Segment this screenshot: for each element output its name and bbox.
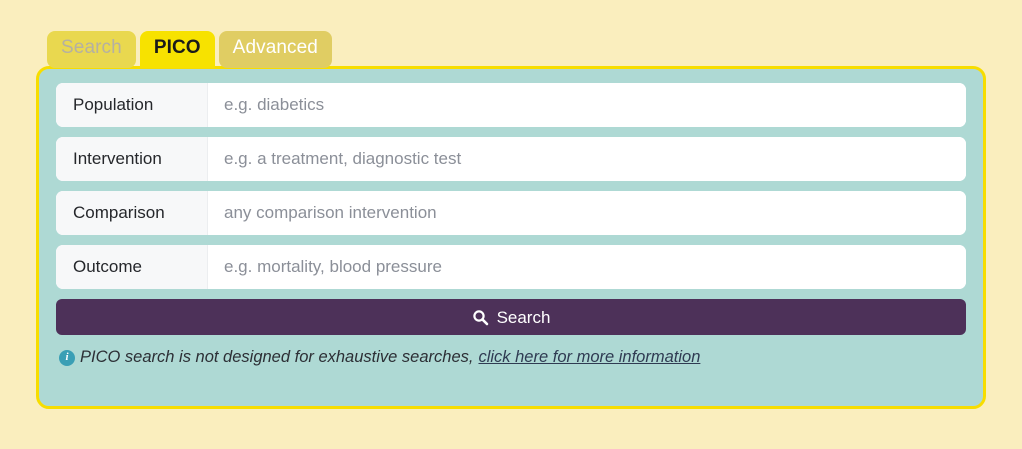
- input-intervention[interactable]: [208, 137, 966, 181]
- label-intervention: Intervention: [56, 137, 208, 181]
- tab-search-label: Search: [61, 38, 122, 57]
- tab-advanced[interactable]: Advanced: [219, 31, 332, 68]
- pico-note-text: PICO search is not designed for exhausti…: [80, 348, 473, 367]
- tab-search[interactable]: Search: [47, 31, 136, 68]
- info-icon: i: [59, 350, 75, 366]
- search-button-label: Search: [497, 309, 551, 326]
- more-information-link[interactable]: click here for more information: [478, 348, 700, 367]
- field-row-population: Population: [56, 83, 966, 127]
- field-row-outcome: Outcome: [56, 245, 966, 289]
- tab-advanced-label: Advanced: [233, 38, 318, 57]
- pico-note: i PICO search is not designed for exhaus…: [56, 348, 966, 367]
- input-comparison[interactable]: [208, 191, 966, 235]
- tab-strip: Search PICO Advanced: [47, 31, 332, 64]
- search-icon: [472, 309, 489, 326]
- tab-pico[interactable]: PICO: [140, 31, 215, 68]
- field-row-comparison: Comparison: [56, 191, 966, 235]
- input-outcome[interactable]: [208, 245, 966, 289]
- tab-pico-label: PICO: [154, 38, 201, 57]
- pico-search-app: Search PICO Advanced Population Interven…: [0, 0, 1022, 449]
- label-population: Population: [56, 83, 208, 127]
- label-comparison: Comparison: [56, 191, 208, 235]
- label-outcome: Outcome: [56, 245, 208, 289]
- input-population[interactable]: [208, 83, 966, 127]
- field-row-intervention: Intervention: [56, 137, 966, 181]
- search-button[interactable]: Search: [56, 299, 966, 335]
- pico-panel: Population Intervention Comparison Outco…: [36, 66, 986, 409]
